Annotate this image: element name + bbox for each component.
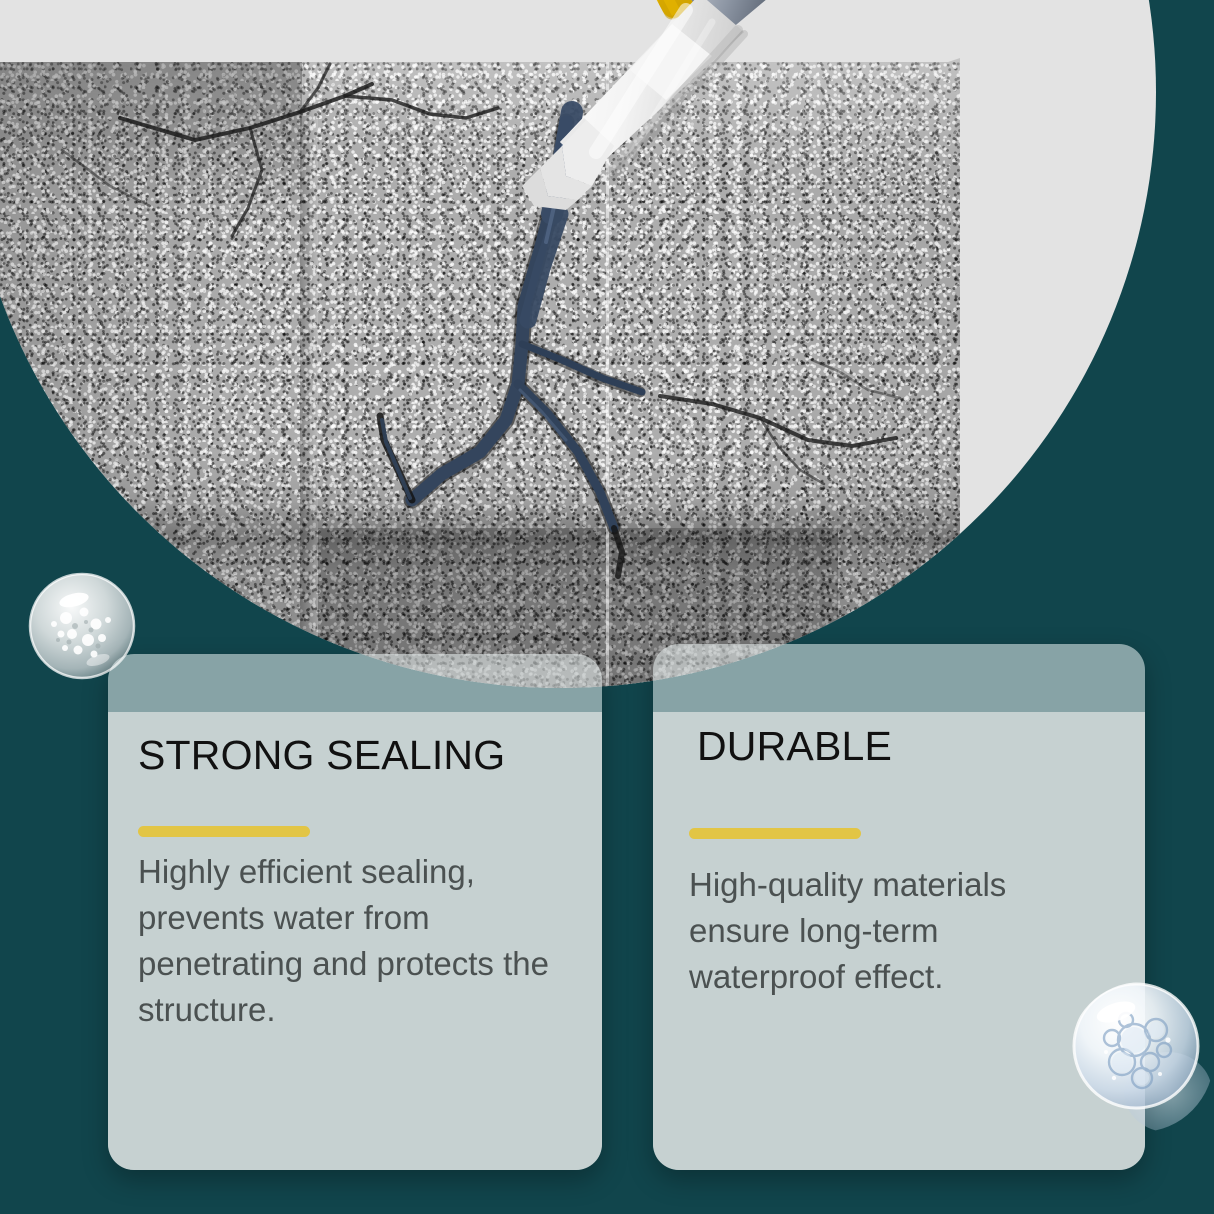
card-body-strong-sealing: Highly efficient sealing, prevents water… — [138, 849, 558, 1033]
card-body-durable: High-quality materials ensure long-term … — [689, 862, 1089, 1000]
accent-bar-strong-sealing — [138, 826, 310, 837]
card-title-durable: DURABLE — [697, 726, 892, 767]
accent-bar-durable — [689, 828, 861, 839]
water-bead-right — [1068, 982, 1214, 1132]
product-feature-banner: STRONG SEALING Highly efficient sealing,… — [0, 0, 1214, 1214]
card-title-strong-sealing: STRONG SEALING — [138, 735, 505, 776]
